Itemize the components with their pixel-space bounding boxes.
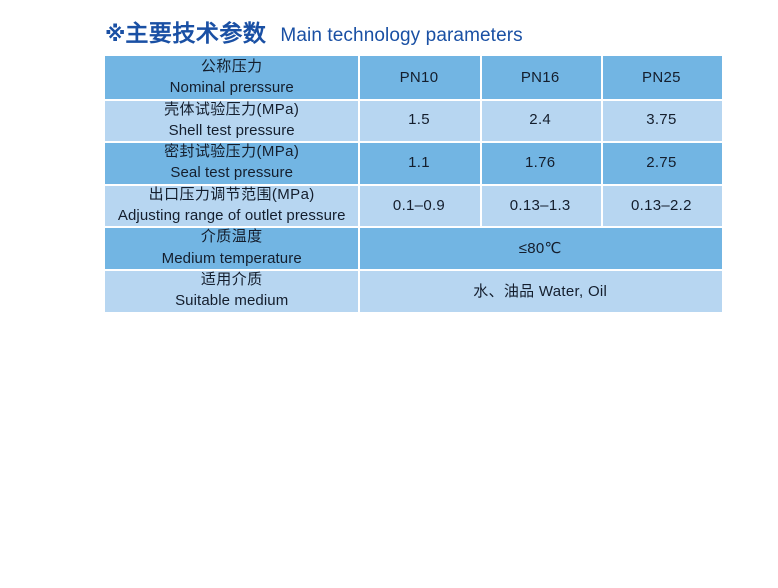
header-label-chinese: 公称压力 bbox=[105, 56, 358, 77]
cell-seal-test-pressure-pn10: 1.1 bbox=[358, 141, 479, 184]
cell-adjusting-range-pn10: 0.1–0.9 bbox=[358, 184, 479, 227]
header-cell-pn25: PN25 bbox=[601, 56, 722, 99]
header-cell-pn10: PN10 bbox=[358, 56, 479, 99]
cell-adjusting-range-pn16: 0.13–1.3 bbox=[480, 184, 601, 227]
cell-suitable-medium-value: 水、油品 Water, Oil bbox=[358, 269, 722, 312]
row-label-adjusting-range: 出口压力调节范围(MPa) Adjusting range of outlet … bbox=[105, 184, 358, 227]
cell-shell-test-pressure-pn25: 3.75 bbox=[601, 99, 722, 142]
cell-shell-test-pressure-pn10: 1.5 bbox=[358, 99, 479, 142]
table-body: 公称压力 Nominal prerssure PN10 PN16 PN25 壳体… bbox=[105, 56, 722, 312]
cell-seal-test-pressure-pn25: 2.75 bbox=[601, 141, 722, 184]
cell-medium-temperature-value: ≤80℃ bbox=[358, 226, 722, 269]
row-label-chinese: 密封试验压力(MPa) bbox=[105, 141, 358, 162]
row-label-english: Adjusting range of outlet pressure bbox=[105, 205, 358, 226]
row-label-chinese: 介质温度 bbox=[105, 226, 358, 247]
row-label-chinese: 壳体试验压力(MPa) bbox=[105, 99, 358, 120]
row-label-chinese: 出口压力调节范围(MPa) bbox=[105, 184, 358, 205]
spec-sheet-page: ※ 主要技术参数 Main technology parameters 公称压力… bbox=[0, 0, 778, 588]
row-label-english: Suitable medium bbox=[105, 290, 358, 311]
page-title-chinese: 主要技术参数 bbox=[125, 14, 266, 48]
table-header-row: 公称压力 Nominal prerssure PN10 PN16 PN25 bbox=[105, 56, 722, 99]
page-title-english: Main technology parameters bbox=[280, 25, 522, 47]
table-row: 适用介质 Suitable medium 水、油品 Water, Oil bbox=[105, 269, 722, 312]
reference-mark-icon: ※ bbox=[105, 22, 125, 47]
row-label-english: Medium temperature bbox=[105, 248, 358, 269]
row-label-english: Shell test pressure bbox=[105, 120, 358, 141]
row-label-medium-temperature: 介质温度 Medium temperature bbox=[105, 226, 358, 269]
row-label-seal-test-pressure: 密封试验压力(MPa) Seal test pressure bbox=[105, 141, 358, 184]
cell-seal-test-pressure-pn16: 1.76 bbox=[480, 141, 601, 184]
cell-shell-test-pressure-pn16: 2.4 bbox=[480, 99, 601, 142]
header-cell-parameter: 公称压力 Nominal prerssure bbox=[105, 56, 358, 99]
row-label-suitable-medium: 适用介质 Suitable medium bbox=[105, 269, 358, 312]
table-row: 出口压力调节范围(MPa) Adjusting range of outlet … bbox=[105, 184, 722, 227]
row-label-english: Seal test pressure bbox=[105, 162, 358, 183]
page-title: ※ 主要技术参数 Main technology parameters bbox=[105, 14, 523, 48]
row-label-shell-test-pressure: 壳体试验压力(MPa) Shell test pressure bbox=[105, 99, 358, 142]
header-label-english: Nominal prerssure bbox=[105, 77, 358, 98]
header-cell-pn16: PN16 bbox=[480, 56, 601, 99]
table-row: 介质温度 Medium temperature ≤80℃ bbox=[105, 226, 722, 269]
technical-parameters-table: 公称压力 Nominal prerssure PN10 PN16 PN25 壳体… bbox=[105, 56, 722, 312]
table-row: 壳体试验压力(MPa) Shell test pressure 1.5 2.4 … bbox=[105, 99, 722, 142]
row-label-chinese: 适用介质 bbox=[105, 269, 358, 290]
cell-adjusting-range-pn25: 0.13–2.2 bbox=[601, 184, 722, 227]
table-row: 密封试验压力(MPa) Seal test pressure 1.1 1.76 … bbox=[105, 141, 722, 184]
